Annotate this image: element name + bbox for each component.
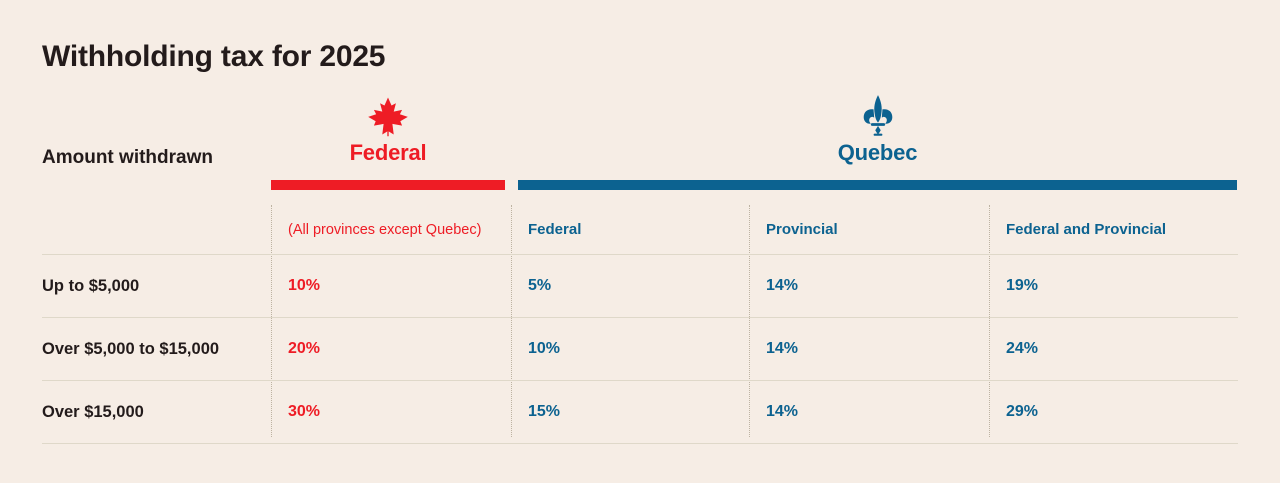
cell-federal: 20% bbox=[272, 318, 512, 381]
group-label-federal: Federal bbox=[271, 140, 505, 166]
cell-quebec-both: 29% bbox=[990, 381, 1238, 444]
group-label-quebec: Quebec bbox=[518, 140, 1237, 166]
infographic-page: Withholding tax for 2025 Federal bbox=[0, 0, 1280, 483]
table-row: Up to $5,000 10% 5% 14% 19% bbox=[42, 255, 1238, 318]
row-amount-label: Over $15,000 bbox=[42, 381, 272, 444]
cell-quebec-provincial: 14% bbox=[750, 255, 990, 318]
subheader-quebec-both: Federal and Provincial bbox=[990, 205, 1238, 255]
table-bottom-rule bbox=[42, 444, 1238, 445]
table-bottom-rule-cell bbox=[42, 444, 1238, 445]
row-amount-label: Over $5,000 to $15,000 bbox=[42, 318, 272, 381]
group-header-federal: Federal bbox=[271, 88, 505, 166]
withholding-tax-table: (All provinces except Quebec) Federal Pr… bbox=[42, 205, 1238, 444]
cell-federal: 30% bbox=[272, 381, 512, 444]
maple-leaf-icon bbox=[271, 88, 505, 138]
cell-quebec-provincial: 14% bbox=[750, 318, 990, 381]
cell-quebec-federal: 5% bbox=[512, 255, 750, 318]
table-row: Over $5,000 to $15,000 20% 10% 14% 24% bbox=[42, 318, 1238, 381]
subheader-stub bbox=[42, 205, 272, 255]
group-header-quebec: Quebec bbox=[518, 88, 1237, 166]
cell-quebec-federal: 15% bbox=[512, 381, 750, 444]
cell-quebec-both: 24% bbox=[990, 318, 1238, 381]
federal-accent-bar bbox=[271, 180, 505, 190]
cell-quebec-federal: 10% bbox=[512, 318, 750, 381]
quebec-accent-bar bbox=[518, 180, 1237, 190]
cell-quebec-both: 19% bbox=[990, 255, 1238, 318]
page-title: Withholding tax for 2025 bbox=[42, 40, 385, 74]
subheader-quebec-federal: Federal bbox=[512, 205, 750, 255]
row-amount-label: Up to $5,000 bbox=[42, 255, 272, 318]
table-subheader-row: (All provinces except Quebec) Federal Pr… bbox=[42, 205, 1238, 255]
subheader-federal-note: (All provinces except Quebec) bbox=[272, 205, 512, 255]
table-row: Over $15,000 30% 15% 14% 29% bbox=[42, 381, 1238, 444]
amount-withdrawn-header: Amount withdrawn bbox=[42, 146, 252, 170]
cell-quebec-provincial: 14% bbox=[750, 381, 990, 444]
fleur-de-lis-icon bbox=[518, 88, 1237, 138]
subheader-quebec-provincial: Provincial bbox=[750, 205, 990, 255]
cell-federal: 10% bbox=[272, 255, 512, 318]
